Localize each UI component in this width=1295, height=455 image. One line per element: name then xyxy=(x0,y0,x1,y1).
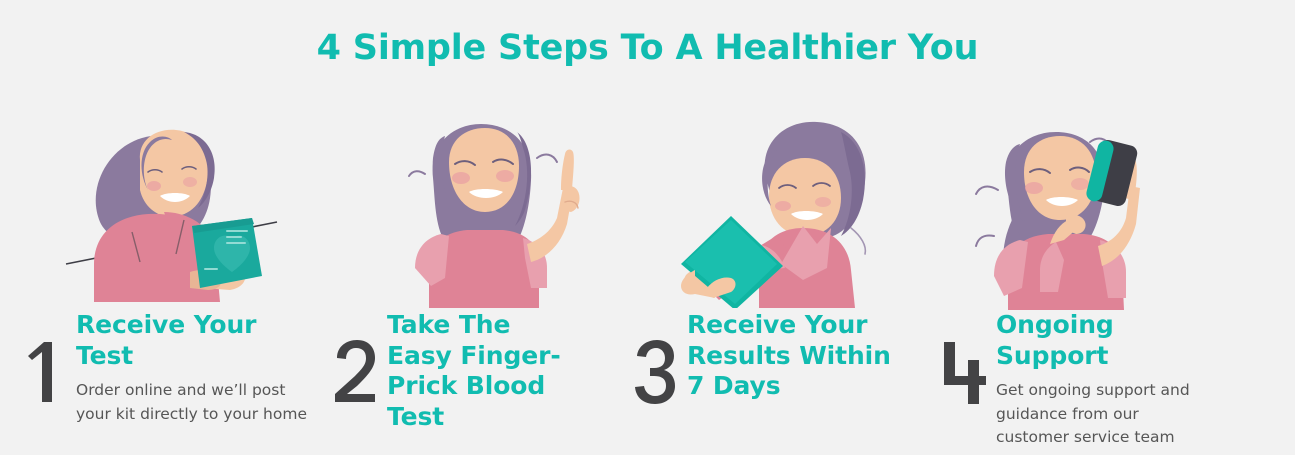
step-2-number xyxy=(333,310,387,404)
step-1-body: Receive Your Test Order online and we’ll… xyxy=(22,310,315,426)
step-4-number xyxy=(942,310,996,404)
step-3-heading: Receive Your Results Within 7 Days xyxy=(687,310,892,402)
four-steps-section: 4 Simple Steps To A Healthier You xyxy=(0,0,1295,455)
step-3-body: Receive Your Results Within 7 Days xyxy=(633,310,930,410)
step-card-1: Receive Your Test Order online and we’ll… xyxy=(0,110,315,455)
step-3-text: Receive Your Results Within 7 Days xyxy=(687,310,930,410)
step-2-text: Take The Easy Finger-Prick Blood Test xyxy=(387,310,615,440)
step-1-text: Receive Your Test Order online and we’ll… xyxy=(76,310,315,426)
step-1-description: Order online and we’ll post your kit dir… xyxy=(76,379,315,426)
step-4-body: Ongoing Support Get ongoing support and … xyxy=(942,310,1295,450)
step-1-number xyxy=(22,310,76,404)
section-title: 4 Simple Steps To A Healthier You xyxy=(0,28,1295,68)
step-3-number xyxy=(633,310,687,404)
step-card-2: Take The Easy Finger-Prick Blood Test xyxy=(315,110,615,455)
step-1-illustration xyxy=(22,110,315,310)
step-card-4: Ongoing Support Get ongoing support and … xyxy=(930,110,1295,455)
step-2-illustration xyxy=(333,110,615,310)
step-4-heading: Ongoing Support xyxy=(996,310,1226,371)
step-2-heading: Take The Easy Finger-Prick Blood Test xyxy=(387,310,572,432)
step-card-3: Receive Your Results Within 7 Days xyxy=(615,110,930,455)
step-4-description: Get ongoing support and guidance from ou… xyxy=(996,379,1211,450)
steps-row: Receive Your Test Order online and we’ll… xyxy=(0,110,1295,455)
step-4-text: Ongoing Support Get ongoing support and … xyxy=(996,310,1295,450)
step-4-illustration xyxy=(942,110,1295,310)
step-1-heading: Receive Your Test xyxy=(76,310,306,371)
step-2-body: Take The Easy Finger-Prick Blood Test xyxy=(333,310,615,440)
step-3-illustration xyxy=(633,110,930,310)
